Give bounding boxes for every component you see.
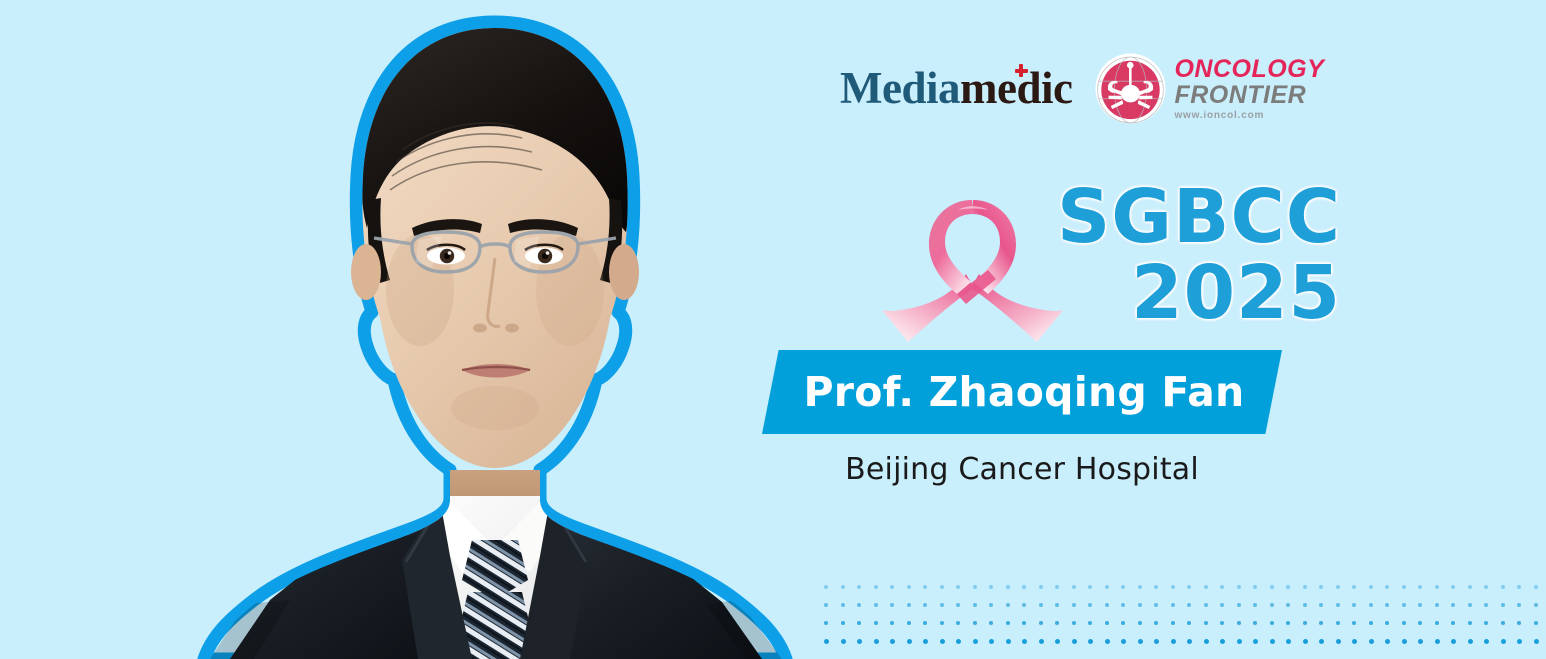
svg-text:.: .: [1094, 52, 1095, 53]
oncology-frontier-line2: FRONTIER: [1174, 83, 1324, 108]
oncology-frontier-wordmark: ONCOLOGY FRONTIER www.ioncol.com: [1174, 57, 1324, 121]
speaker-name-banner: Prof. Zhaoqing Fan: [762, 350, 1282, 434]
red-medical-cross-icon: [1015, 64, 1028, 77]
sgbcc-wordmark: SGBCC 2025: [1057, 182, 1341, 329]
sgbcc-year: 2025: [1131, 258, 1341, 328]
sgbcc-acronym: SGBCC: [1057, 182, 1341, 252]
mediamedic-logo[interactable]: Media medic: [840, 66, 1072, 111]
speaker-affiliation: Beijing Cancer Hospital: [762, 452, 1282, 487]
mediamedic-logo-part1: Media: [840, 66, 960, 111]
logo-bar: Media medic: [840, 52, 1324, 125]
dot-grid-decoration: [824, 585, 1546, 659]
speaker-announcement-card: Media medic: [0, 0, 1546, 659]
oncology-frontier-url: www.ioncol.com: [1174, 111, 1324, 121]
oncology-frontier-line1: ONCOLOGY: [1174, 57, 1324, 82]
oncology-frontier-logo[interactable]: . ONCOLOGY FRONTIER www.ioncol.com: [1094, 52, 1324, 125]
pink-awareness-ribbon-icon: [880, 186, 1065, 346]
dot-grid-row: [824, 621, 1546, 625]
mediamedic-logo-part2: medic: [960, 66, 1072, 111]
speaker-portrait: [150, 0, 840, 659]
dot-grid-row: [824, 639, 1546, 643]
portrait-photo-image: [150, 0, 840, 659]
crab-cancer-emblem-icon: .: [1094, 52, 1167, 125]
dot-grid-row: [824, 603, 1546, 607]
speaker-name: Prof. Zhaoqing Fan: [762, 350, 1282, 434]
dot-grid-row: [824, 585, 1546, 589]
sgbcc-event-lockup: SGBCC 2025: [880, 178, 1341, 346]
